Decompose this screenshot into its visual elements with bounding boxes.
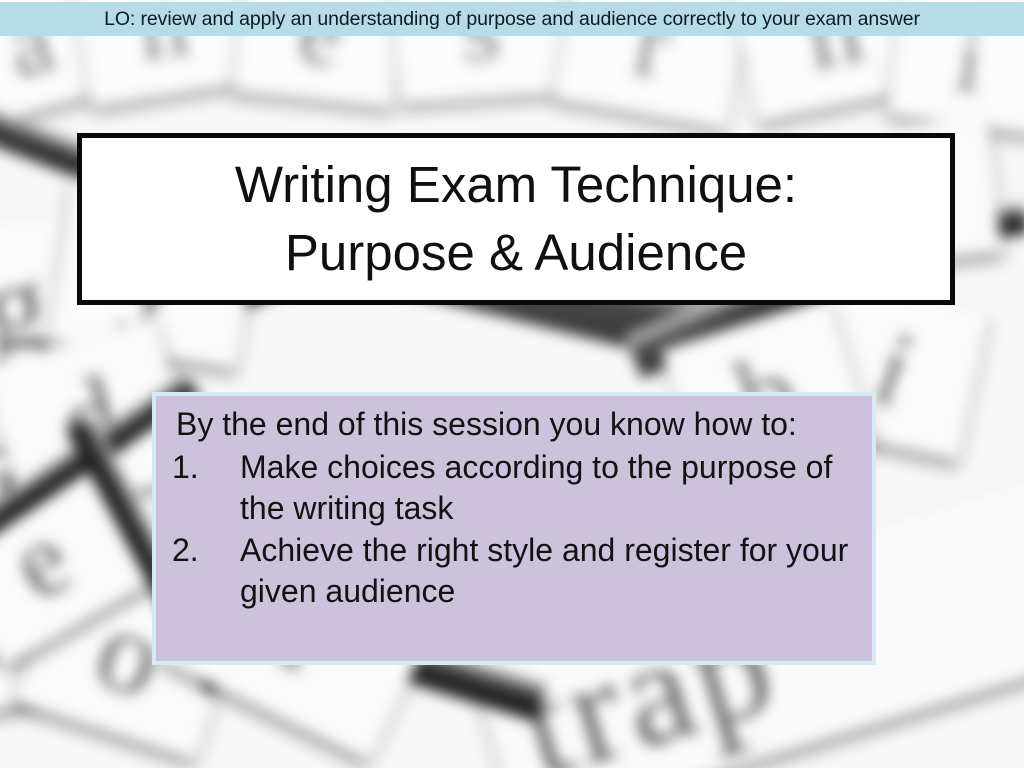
list-item-marker: 2. bbox=[166, 530, 240, 571]
objectives-intro-text: By the end of this session you know how … bbox=[166, 404, 862, 445]
list-item-text: Make choices according to the purpose of… bbox=[240, 447, 862, 530]
list-item-text: Achieve the right style and register for… bbox=[240, 530, 862, 613]
learning-objective-banner: LO: review and apply an understanding of… bbox=[0, 2, 1024, 36]
learning-objective-text: LO: review and apply an understanding of… bbox=[104, 8, 920, 31]
objectives-list: 1. Make choices according to the purpose… bbox=[166, 447, 862, 613]
list-item: 2. Achieve the right style and register … bbox=[166, 530, 862, 613]
slide: a n e s r n i i i b g y a d b o e bbox=[0, 0, 1024, 768]
list-item-marker: 1. bbox=[166, 447, 240, 488]
list-item: 1. Make choices according to the purpose… bbox=[166, 447, 862, 530]
objectives-box: By the end of this session you know how … bbox=[152, 392, 876, 665]
slide-title-line-2: Purpose & Audience bbox=[285, 219, 747, 287]
slide-title-line-1: Writing Exam Technique: bbox=[235, 151, 797, 219]
slide-title-box: Writing Exam Technique: Purpose & Audien… bbox=[77, 133, 955, 305]
